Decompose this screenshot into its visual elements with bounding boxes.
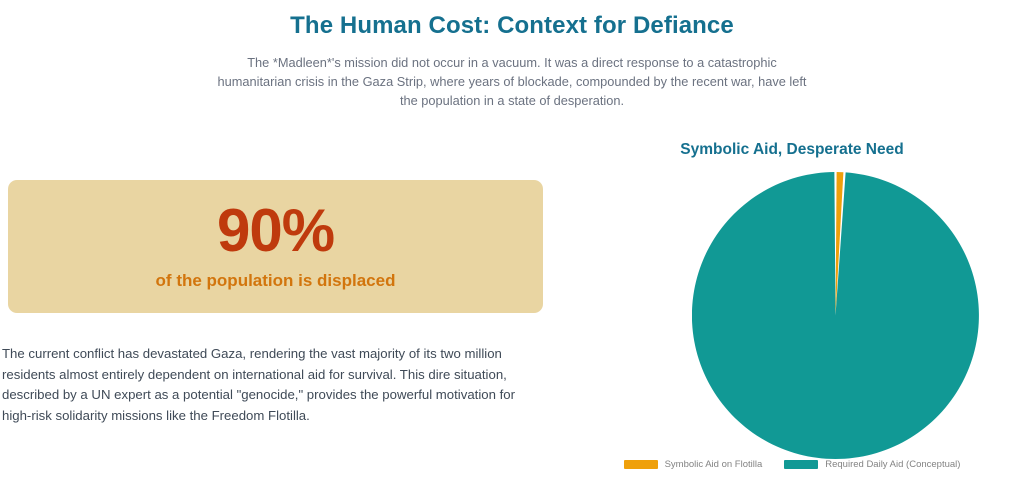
body-paragraph: The current conflict has devastated Gaza… <box>2 344 542 426</box>
chart-legend: Symbolic Aid on Flotilla Required Daily … <box>560 460 1024 470</box>
legend-item-symbolic-aid[interactable]: Symbolic Aid on Flotilla <box>624 460 763 470</box>
left-column: 90% of the population is displaced The c… <box>0 128 560 485</box>
pie-chart-svg <box>692 172 979 459</box>
content-columns: 90% of the population is displaced The c… <box>0 128 1024 485</box>
legend-swatch-symbolic-aid <box>624 460 658 469</box>
legend-item-required-aid[interactable]: Required Daily Aid (Conceptual) <box>784 460 960 470</box>
stat-caption: of the population is displaced <box>156 271 396 291</box>
pie-chart <box>692 172 979 459</box>
right-column: Symbolic Aid, Desperate Need Symbolic Ai… <box>560 128 1024 485</box>
pie-slice[interactable] <box>692 172 979 459</box>
page-subtitle: The *Madleen*'s mission did not occur in… <box>209 53 815 110</box>
page-title: The Human Cost: Context for Defiance <box>0 10 1024 41</box>
stat-number: 90% <box>217 201 334 261</box>
stat-card-displacement: 90% of the population is displaced <box>8 180 543 313</box>
legend-label-required-aid: Required Daily Aid (Conceptual) <box>825 460 960 470</box>
chart-title: Symbolic Aid, Desperate Need <box>560 141 1024 160</box>
page-header: The Human Cost: Context for Defiance The… <box>0 0 1024 110</box>
legend-label-symbolic-aid: Symbolic Aid on Flotilla <box>665 460 763 470</box>
legend-swatch-required-aid <box>784 460 818 469</box>
